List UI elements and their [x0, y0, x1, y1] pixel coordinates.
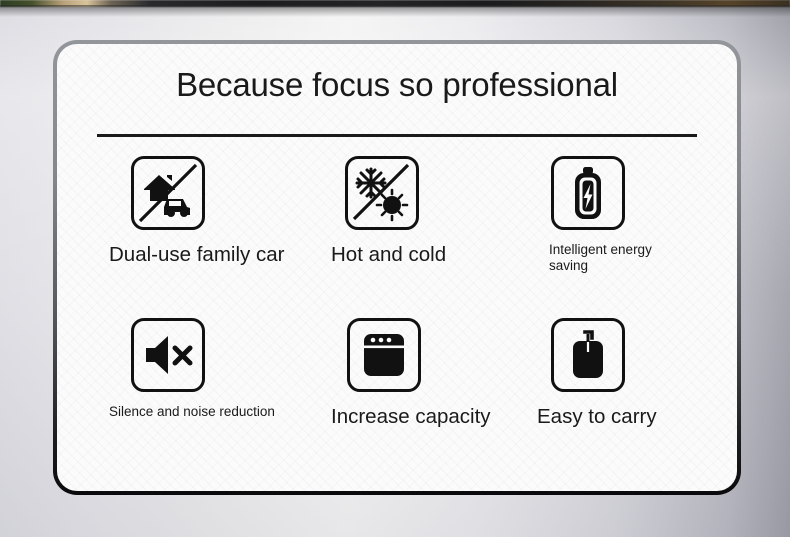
fridge-window-icon: [347, 318, 421, 392]
feature-item-increase-capacity[interactable]: Increase capacity: [293, 318, 501, 480]
feature-item-dual-use-family-car[interactable]: Dual-use family car: [85, 156, 293, 318]
title-divider: [97, 134, 697, 137]
snowflake-sun-icon: [345, 156, 419, 230]
feature-label: Intelligent energy saving: [549, 242, 669, 274]
feature-label: Silence and noise reduction: [109, 404, 275, 420]
feature-label: Dual-use family car: [109, 243, 284, 267]
feature-item-easy-to-carry[interactable]: Easy to carry: [501, 318, 709, 480]
feature-item-hot-and-cold[interactable]: Hot and cold: [293, 156, 501, 318]
feature-label: Increase capacity: [331, 405, 491, 429]
feature-item-intelligent-energy-saving[interactable]: Intelligent energy saving: [501, 156, 709, 318]
page-title: Because focus so professional: [57, 66, 737, 104]
poster-canvas: Because focus so professional: [0, 0, 790, 537]
feature-label: Easy to carry: [537, 405, 657, 429]
portable-bag-icon: [551, 318, 625, 392]
feature-item-silence-and-noise-reduction[interactable]: Silence and noise reduction: [85, 318, 293, 480]
feature-grid: Dual-use family car: [85, 156, 709, 480]
battery-bolt-icon: [551, 156, 625, 230]
feature-label: Hot and cold: [331, 243, 446, 267]
feature-card: Because focus so professional: [57, 44, 737, 491]
top-photo-fade: [0, 5, 790, 17]
mute-speaker-icon: [131, 318, 205, 392]
house-car-icon: [131, 156, 205, 230]
